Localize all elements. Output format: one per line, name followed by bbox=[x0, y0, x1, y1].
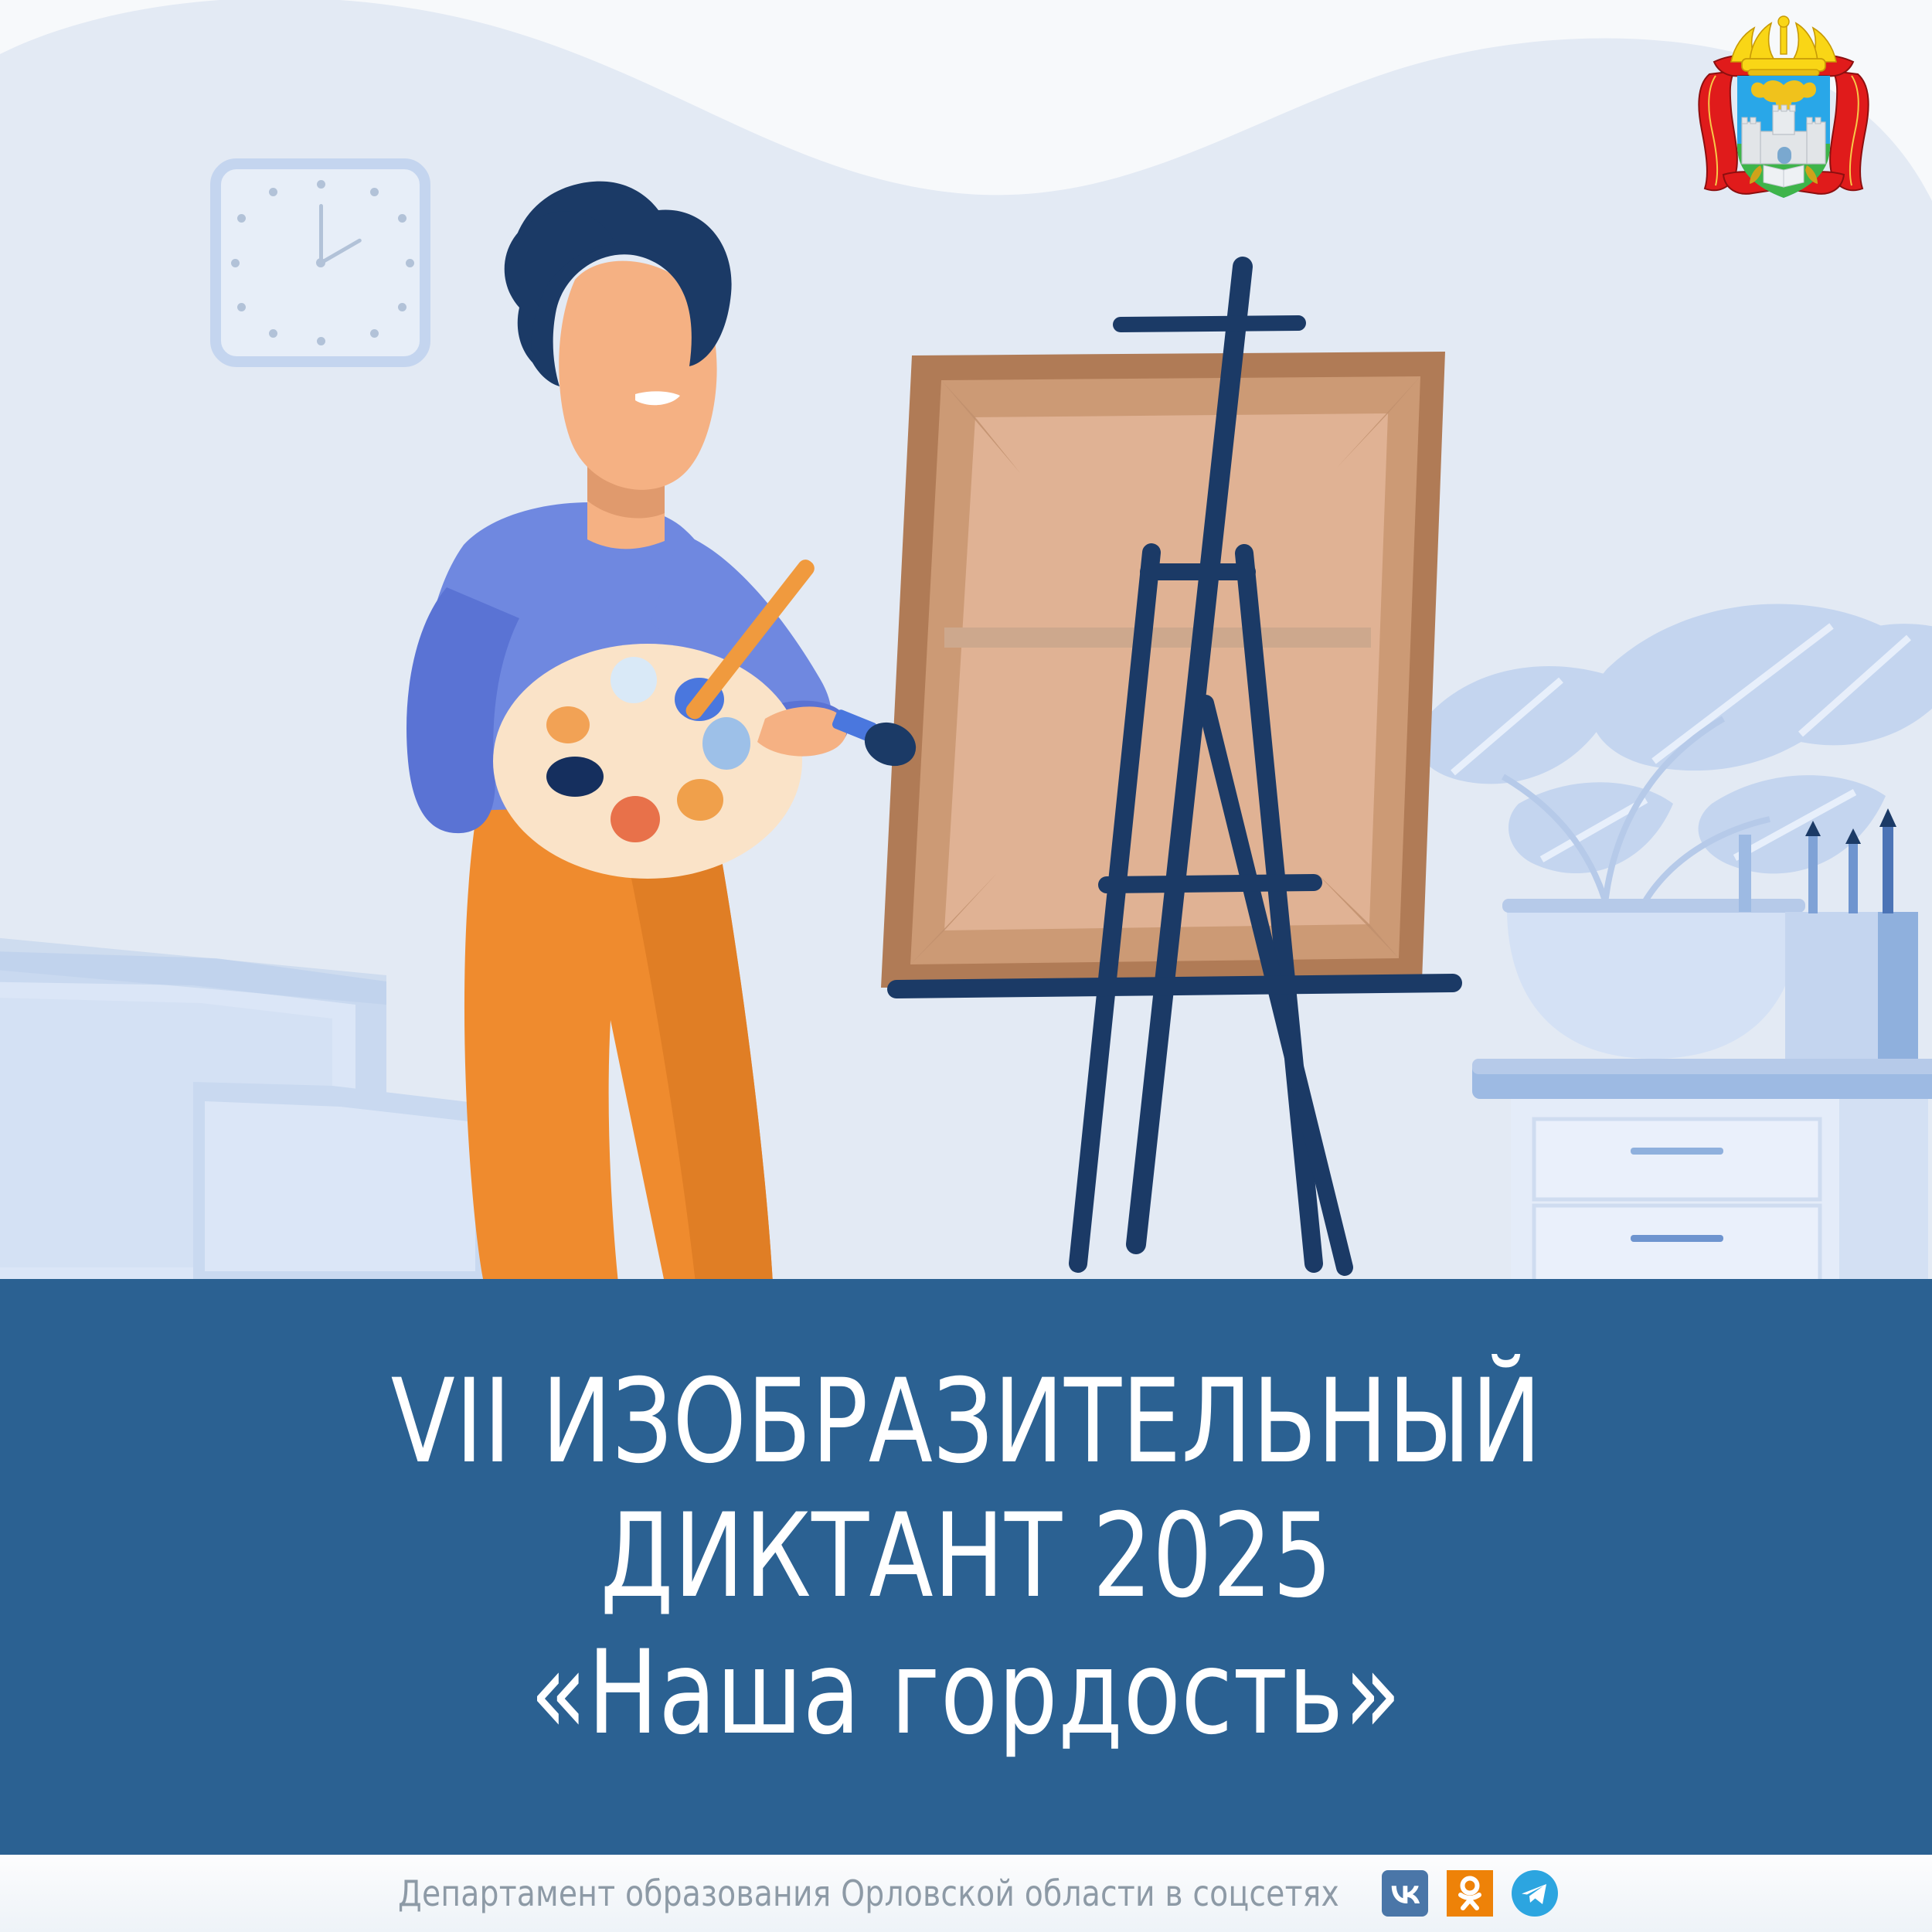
footer-bar: Департамент образования Орловской област… bbox=[0, 1855, 1932, 1932]
ok-icon[interactable] bbox=[1446, 1869, 1494, 1917]
telegram-icon[interactable] bbox=[1511, 1869, 1559, 1917]
poster-canvas: VII ИЗОБРАЗИТЕЛЬНЫЙ ДИКТАНТ 2025 «Наша г… bbox=[0, 0, 1932, 1932]
title-line-1: VII ИЗОБРАЗИТЕЛЬНЫЙ bbox=[390, 1355, 1541, 1489]
vk-icon[interactable] bbox=[1381, 1869, 1429, 1917]
oryol-oblast-coat-of-arms bbox=[1683, 14, 1884, 223]
leaning-frames bbox=[0, 935, 495, 1283]
title-line-3: «Наша гордость» bbox=[530, 1624, 1402, 1763]
title-line-2: ДИКТАНТ 2025 bbox=[600, 1489, 1332, 1624]
crown bbox=[1731, 16, 1836, 76]
illustration-scene bbox=[0, 0, 1932, 1283]
paint-palette bbox=[493, 644, 802, 879]
title-banner: VII ИЗОБРАЗИТЕЛЬНЫЙ ДИКТАНТ 2025 «Наша г… bbox=[0, 1279, 1932, 1855]
scene-artwork bbox=[0, 0, 1932, 1283]
right-furniture bbox=[1417, 604, 1932, 1283]
artist-figure bbox=[406, 182, 923, 1283]
footer-label: Департамент образования Орловской област… bbox=[398, 1872, 1339, 1914]
shield bbox=[1737, 76, 1830, 198]
